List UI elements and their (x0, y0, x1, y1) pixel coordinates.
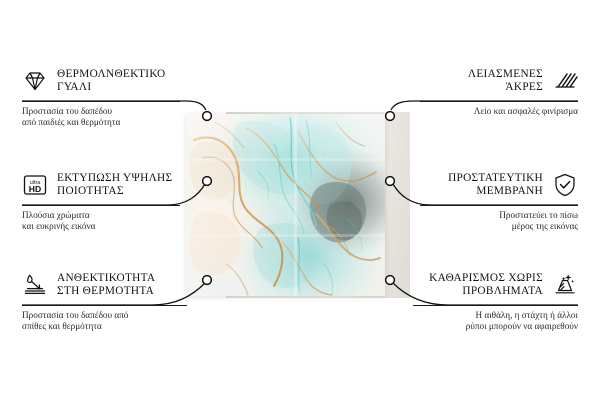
feature-title: ΕΚΤΥΠΩΣΗ ΥΨΗΛΗΣ ΠΟΙΟΤΗΤΑΣ (57, 172, 172, 199)
connector-dot-protective-membrane (386, 177, 395, 186)
feature-header: ultra HD ΕΚΤΥΠΩΣΗ ΥΨΗΛΗΣ ΠΟΙΟΤΗΤΑΣ (22, 168, 180, 202)
feature-title: ΠΡΟΣΤΑΤΕΥΤΙΚΗ ΜΕΜΒΡΑΝΗ (448, 172, 543, 199)
feature-polished-edges: ΛΕΙΑΣΜΕΝΕΣ ΆΚΡΕΣ Λείο και ασφαλές φινίρι… (420, 64, 578, 117)
polished-edges-icon (552, 68, 578, 94)
feature-header: ΠΡΟΣΤΑΤΕΥΤΙΚΗ ΜΕΜΒΡΑΝΗ (420, 168, 578, 202)
feature-header: ΘΕΡΜΟΛΝΘΕΚΤΙΚΟ ΓΥΑΛΙ (22, 64, 180, 98)
feature-header: ΛΕΙΑΣΜΕΝΕΣ ΆΚΡΕΣ (420, 64, 578, 98)
feature-title: ΚΑΘΑΡΙΣΜΟΣ ΧΩΡΙΣ ΠΡΟΒΛΗΜΑΤΑ (429, 272, 543, 299)
feature-description: Προστατεύει το πίσω μέρος της εικόνας (420, 210, 578, 233)
divider (22, 305, 187, 306)
connector-dot-easy-cleaning (386, 276, 395, 285)
feature-description: Προστασία του δαπέδου από παιδιές και θε… (22, 106, 180, 129)
feature-easy-cleaning: ΚΑΘΑΡΙΣΜΟΣ ΧΩΡΙΣ ΠΡΟΒΛΗΜΑΤΑ Η αιθάλη, η … (413, 268, 578, 333)
divider (420, 101, 578, 102)
diamond-icon (22, 68, 48, 94)
feature-high-quality-print: ultra HD ΕΚΤΥΠΩΣΗ ΥΨΗΛΗΣ ΠΟΙΟΤΗΤΑΣ Πλούσ… (22, 168, 180, 233)
shield-check-icon (552, 172, 578, 198)
divider (413, 305, 578, 306)
feature-description: Προστασία του δαπέδου από σπίθες και θερ… (22, 310, 187, 333)
connector-dot-heat-resistant-glass (203, 112, 212, 121)
feature-heat-resistant-glass: ΘΕΡΜΟΛΝΘΕΚΤΙΚΟ ΓΥΑΛΙ Προστασία του δαπέδ… (22, 64, 180, 129)
feature-header: ΚΑΘΑΡΙΣΜΟΣ ΧΩΡΙΣ ΠΡΟΒΛΗΜΑΤΑ (413, 268, 578, 302)
feature-title: ΘΕΡΜΟΛΝΘΕΚΤΙΚΟ ΓΥΑΛΙ (57, 68, 165, 95)
infographic-canvas: ΘΕΡΜΟΛΝΘΕΚΤΙΚΟ ΓΥΑΛΙ Προστασία του δαπέδ… (0, 0, 600, 400)
connector-dot-polished-edges (386, 112, 395, 121)
divider (22, 101, 180, 102)
connector-dot-heat-durability (203, 276, 212, 285)
divider (22, 205, 180, 206)
divider (420, 205, 578, 206)
feature-title: ΑΝΘΕΚΤΙΚΟΤΗΤΑ ΣΤΗ ΘΕΡΜΟΤΗΤΑ (57, 272, 155, 299)
feature-description: Λείο και ασφαλές φινίρισμα (420, 106, 578, 117)
hd-label: HD (29, 184, 41, 194)
feature-description: Η αιθάλη, η στάχτη ή άλλοι ρύποι μπορούν… (413, 310, 578, 333)
feature-protective-membrane: ΠΡΟΣΤΑΤΕΥΤΙΚΗ ΜΕΜΒΡΑΝΗ Προστατεύει το πί… (420, 168, 578, 233)
flame-heat-icon (22, 272, 48, 298)
feature-header: ΑΝΘΕΚΤΙΚΟΤΗΤΑ ΣΤΗ ΘΕΡΜΟΤΗΤΑ (22, 268, 187, 302)
feature-heat-durability: ΑΝΘΕΚΤΙΚΟΤΗΤΑ ΣΤΗ ΘΕΡΜΟΤΗΤΑ Προστασία το… (22, 268, 187, 333)
connector-dot-high-quality-print (203, 177, 212, 186)
feature-description: Πλούσια χρώματα και ευκρινής εικόνα (22, 210, 180, 233)
feature-title: ΛΕΙΑΣΜΕΝΕΣ ΆΚΡΕΣ (468, 68, 543, 95)
sparkle-clean-icon (552, 272, 578, 298)
ultra-hd-icon: ultra HD (22, 172, 48, 198)
